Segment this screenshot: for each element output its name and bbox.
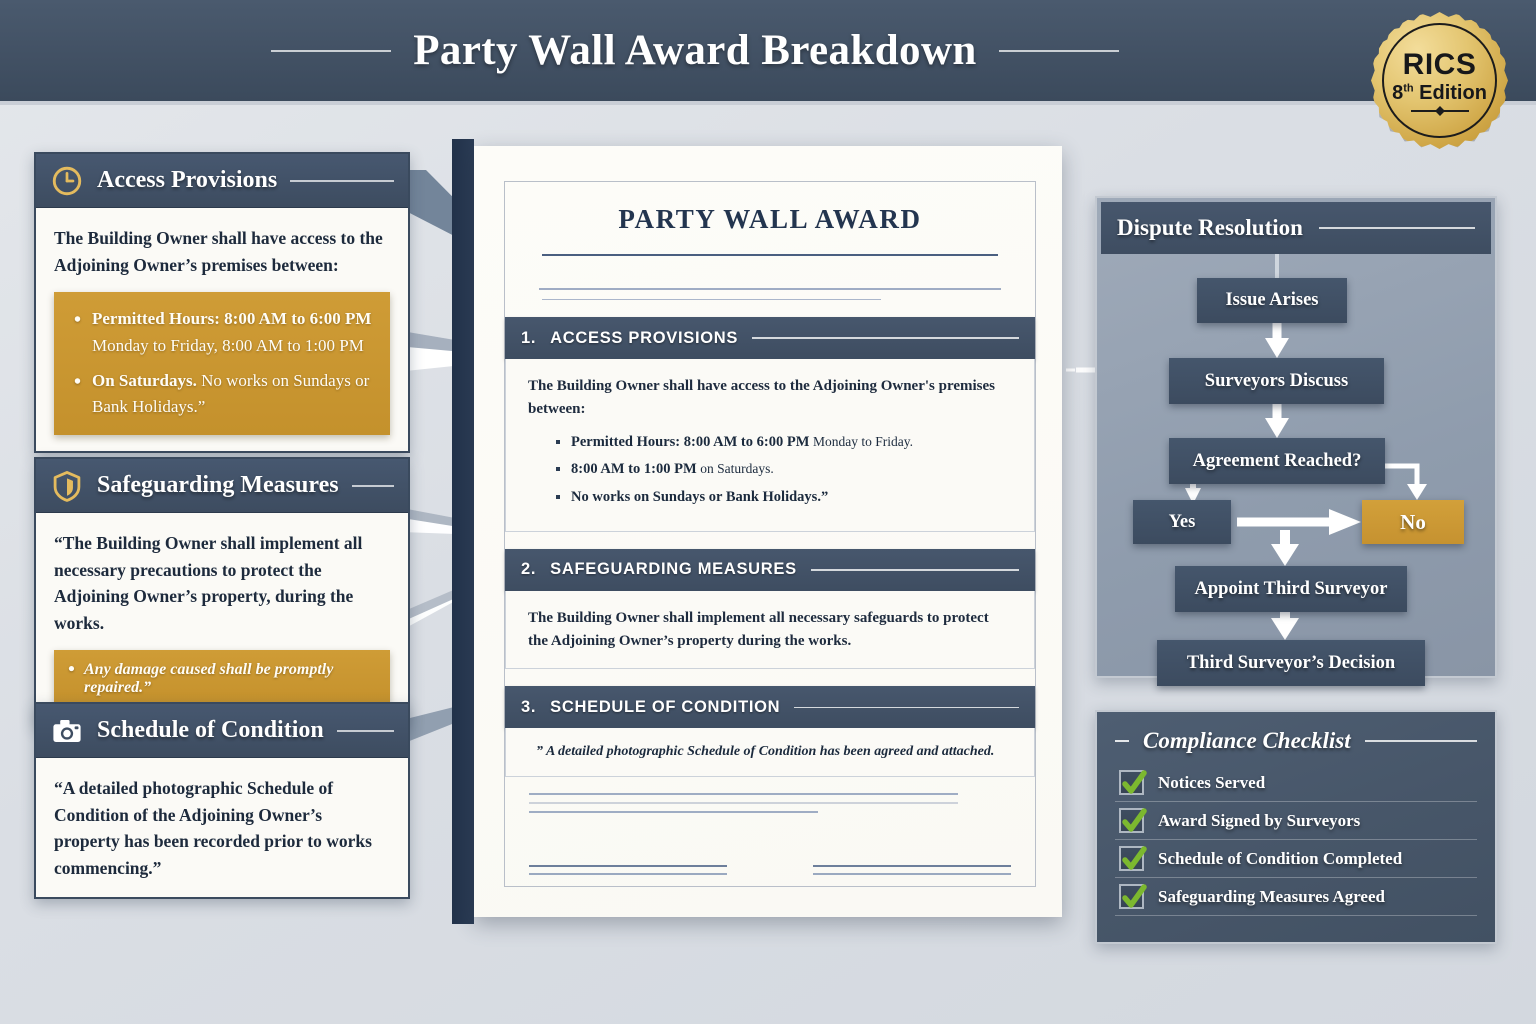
- flow-node-agreement-reached[interactable]: Agreement Reached?: [1169, 438, 1385, 484]
- panel-safeguarding-header: Safeguarding Measures: [36, 459, 408, 513]
- section-3-number: 3.: [521, 698, 536, 717]
- section-2-text: The Building Owner shall implement all n…: [528, 607, 1012, 653]
- checklist-item[interactable]: Safeguarding Measures Agreed: [1115, 878, 1477, 916]
- rics-badge: RICS 8th Edition: [1371, 12, 1508, 149]
- panel-safeguarding-title: Safeguarding Measures: [97, 472, 339, 499]
- section-3-title: SCHEDULE OF CONDITION: [550, 698, 780, 717]
- infographic-page: Party Wall Award Breakdown RICS 8th Edit…: [0, 0, 1536, 1024]
- rics-edition-label: Edition: [1419, 82, 1487, 104]
- checkbox-checked[interactable]: [1119, 846, 1144, 871]
- signature-row: [529, 865, 1011, 875]
- document-spine: [452, 139, 474, 924]
- panel-safeguarding-measures[interactable]: Safeguarding Measures “The Building Owne…: [34, 457, 410, 726]
- signature-line-right: [813, 865, 1011, 875]
- bullet-bold: Permitted Hours: 8:00 AM to 6:00 PM: [571, 434, 809, 450]
- document-rule-primary: [542, 254, 998, 256]
- flow-node-no[interactable]: No: [1362, 500, 1464, 544]
- panel-dispute-resolution[interactable]: Dispute Resolution: [1095, 196, 1497, 678]
- section-1-title: ACCESS PROVISIONS: [550, 329, 738, 348]
- panel-safeguarding-highlight: Any damage caused shall be promptly repa…: [54, 650, 390, 708]
- flowchart-canvas: Issue Arises Surveyors Discuss Agreement…: [1097, 254, 1495, 674]
- seal-divider: [1411, 110, 1469, 112]
- camera-icon: [50, 714, 84, 748]
- section-2-number: 2.: [521, 560, 536, 579]
- section-3-note: ” A detailed photographic Schedule of Co…: [528, 744, 1012, 760]
- panel-access-provisions[interactable]: Access Provisions The Building Owner sha…: [34, 152, 410, 453]
- document-inner-frame: PARTY WALL AWARD 1. ACCESS PROVISIONS Th…: [504, 181, 1036, 887]
- document-page: PARTY WALL AWARD 1. ACCESS PROVISIONS Th…: [474, 146, 1062, 917]
- section-1-text: The Building Owner shall have access to …: [528, 375, 1012, 421]
- panel-safeguarding-body: “The Building Owner shall implement all …: [36, 513, 408, 724]
- flow-node-issue-arises[interactable]: Issue Arises: [1197, 278, 1347, 323]
- section-2-rule: [811, 569, 1019, 571]
- header-rule-left: [271, 50, 391, 52]
- flowchart-rule: [1319, 227, 1475, 229]
- clock-icon: [50, 164, 84, 198]
- document-heading: PARTY WALL AWARD: [505, 182, 1035, 235]
- document-section-body-2: The Building Owner shall implement all n…: [505, 591, 1035, 670]
- section-1-bullet: Permitted Hours: 8:00 AM to 6:00 PM Mond…: [556, 432, 1012, 454]
- section-3-rule: [794, 707, 1019, 709]
- footer-placeholder-line: [529, 802, 958, 804]
- panel-safeguarding-strip-text: Any damage caused shall be promptly repa…: [68, 661, 376, 697]
- flow-node-appoint-third-surveyor[interactable]: Appoint Third Surveyor: [1175, 566, 1407, 612]
- panel-access-intro: The Building Owner shall have access to …: [54, 225, 390, 278]
- document-section-body-3: ” A detailed photographic Schedule of Co…: [505, 728, 1035, 777]
- bullet-light: Monday to Friday.: [813, 434, 913, 449]
- checklist-item-label: Safeguarding Measures Agreed: [1158, 887, 1385, 907]
- highlight-light: Monday to Friday, 8:00 AM to 1:00 PM: [92, 336, 364, 355]
- section-1-bullets: Permitted Hours: 8:00 AM to 6:00 PM Mond…: [556, 432, 1012, 509]
- check-icon: [1122, 806, 1147, 836]
- check-icon: [1122, 768, 1147, 798]
- signature-line-left: [529, 865, 727, 875]
- panel-compliance-checklist[interactable]: Compliance Checklist Notices Served Awar…: [1095, 710, 1497, 944]
- section-1-bullet: No works on Sundays or Bank Holidays.”: [556, 487, 1012, 509]
- panel-access-highlight-item: Permitted Hours: 8:00 AM to 6:00 PM Mond…: [70, 306, 374, 359]
- bullet-bold: No works on Sundays or Bank Holidays.”: [571, 489, 828, 505]
- panel-schedule-of-condition[interactable]: Schedule of Condition “A detailed photog…: [34, 702, 410, 899]
- checklist-item-label: Schedule of Condition Completed: [1158, 849, 1402, 869]
- rics-edition: 8th Edition: [1392, 83, 1487, 103]
- checklist-item-label: Award Signed by Surveyors: [1158, 811, 1360, 831]
- footer-placeholder-line: [529, 811, 818, 813]
- panel-schedule-title: Schedule of Condition: [97, 717, 324, 744]
- rics-edition-suffix: th: [1403, 82, 1413, 94]
- panel-access-title: Access Provisions: [97, 167, 277, 194]
- checklist-item[interactable]: Schedule of Condition Completed: [1115, 840, 1477, 878]
- checklist-title: Compliance Checklist: [1143, 728, 1351, 754]
- footer-placeholder-line: [529, 793, 958, 795]
- seal-text: RICS 8th Edition: [1371, 12, 1508, 149]
- panel-access-rule: [290, 180, 394, 182]
- panel-schedule-rule: [337, 730, 394, 732]
- checklist-header: Compliance Checklist: [1115, 728, 1477, 754]
- flowchart-header: Dispute Resolution: [1101, 202, 1491, 254]
- page-header: Party Wall Award Breakdown RICS 8th Edit…: [0, 0, 1536, 105]
- highlight-bold: Permitted Hours: 8:00 AM to 6:00 PM: [92, 309, 371, 328]
- header-rule-right: [999, 50, 1119, 52]
- checklist-rule: [1365, 740, 1477, 742]
- party-wall-award-document[interactable]: PARTY WALL AWARD 1. ACCESS PROVISIONS Th…: [452, 139, 1062, 924]
- highlight-bold: On Saturdays.: [92, 371, 197, 390]
- document-section-header-3: 3. SCHEDULE OF CONDITION: [505, 686, 1035, 728]
- checkbox-checked[interactable]: [1119, 770, 1144, 795]
- section-1-rule: [752, 337, 1019, 339]
- shield-icon: [50, 469, 84, 503]
- document-rule-secondary: [539, 288, 1000, 290]
- panel-safeguarding-intro: “The Building Owner shall implement all …: [54, 530, 390, 636]
- checklist-item-label: Notices Served: [1158, 773, 1265, 793]
- rics-name: RICS: [1403, 50, 1477, 80]
- header-title-row: Party Wall Award Breakdown: [0, 0, 1390, 101]
- panel-schedule-intro: “A detailed photographic Schedule of Con…: [54, 775, 390, 881]
- checklist-item[interactable]: Notices Served: [1115, 764, 1477, 802]
- document-rule-tertiary: [542, 299, 881, 301]
- document-section-body-1: The Building Owner shall have access to …: [505, 359, 1035, 532]
- section-1-bullet: 8:00 AM to 1:00 PM on Saturdays.: [556, 459, 1012, 481]
- flowchart-title: Dispute Resolution: [1117, 215, 1303, 241]
- section-1-number: 1.: [521, 329, 536, 348]
- section-2-title: SAFEGUARDING MEASURES: [550, 560, 797, 579]
- flow-node-yes[interactable]: Yes: [1133, 500, 1231, 544]
- bullet-bold: 8:00 AM to 1:00 PM: [571, 461, 697, 477]
- panel-schedule-body: “A detailed photographic Schedule of Con…: [36, 758, 408, 897]
- checklist-dash: [1115, 740, 1129, 742]
- panel-access-body: The Building Owner shall have access to …: [36, 208, 408, 451]
- flow-node-surveyors-discuss[interactable]: Surveyors Discuss: [1169, 358, 1384, 404]
- panel-access-highlight-item: On Saturdays. No works on Sundays or Ban…: [70, 368, 374, 421]
- panel-access-highlight: Permitted Hours: 8:00 AM to 6:00 PM Mond…: [54, 292, 390, 434]
- panel-safeguarding-rule: [352, 485, 394, 487]
- checklist-item[interactable]: Award Signed by Surveyors: [1115, 802, 1477, 840]
- flow-node-third-surveyor-decision[interactable]: Third Surveyor’s Decision: [1157, 640, 1425, 686]
- bullet-light: on Saturdays.: [700, 461, 774, 476]
- checkbox-checked[interactable]: [1119, 884, 1144, 909]
- panel-access-header: Access Provisions: [36, 154, 408, 208]
- rics-edition-number: 8: [1392, 82, 1403, 104]
- document-section-header-2: 2. SAFEGUARDING MEASURES: [505, 549, 1035, 591]
- document-footer: [505, 777, 1035, 875]
- page-title: Party Wall Award Breakdown: [413, 26, 976, 75]
- check-icon: [1122, 882, 1147, 912]
- document-section-header-1: 1. ACCESS PROVISIONS: [505, 317, 1035, 359]
- panel-schedule-header: Schedule of Condition: [36, 704, 408, 758]
- checkbox-checked[interactable]: [1119, 808, 1144, 833]
- check-icon: [1122, 844, 1147, 874]
